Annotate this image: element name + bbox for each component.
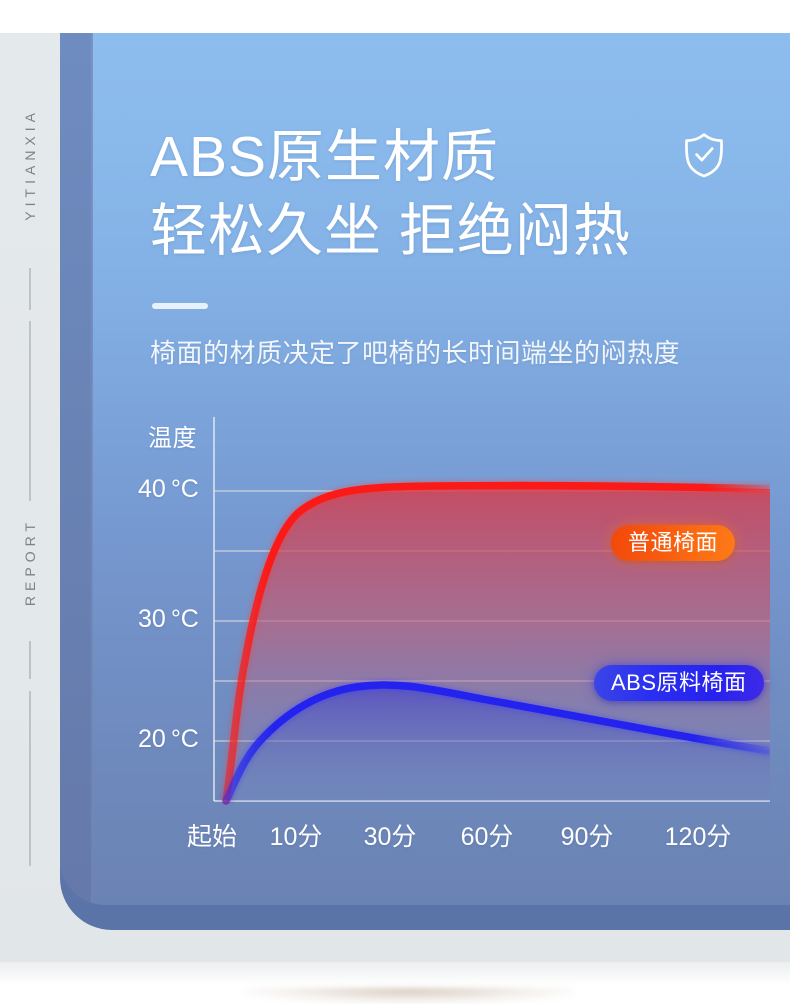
y-axis-tick-40: 40 °C: [138, 475, 199, 504]
page-title: ABS原生材质 轻松久坐 拒绝闷热: [150, 120, 710, 268]
rail-divider-2: [30, 321, 31, 501]
title-divider: [152, 303, 208, 309]
brand-vertical-label: YITIANXIA: [22, 108, 38, 221]
side-rail: YITIANXIA REPORT: [0, 33, 60, 962]
y-axis-tick-30: 30 °C: [138, 605, 199, 634]
rail-divider-4: [30, 691, 31, 866]
x-axis-tick-5: 120分: [665, 817, 732, 853]
section-vertical-label: REPORT: [22, 518, 38, 606]
page-subtitle: 椅面的材质决定了吧椅的长时间端坐的闷热度: [150, 334, 750, 372]
page-title-line-1: ABS原生材质: [150, 120, 710, 194]
chart-plot: [130, 405, 770, 815]
card-left-spine: [60, 33, 93, 905]
x-axis-tick-2: 30分: [364, 817, 417, 853]
x-axis-tick-4: 90分: [561, 817, 614, 853]
x-axis-tick-1: 10分: [270, 817, 323, 853]
x-axis-tick-3: 60分: [461, 817, 514, 853]
legend-pill-ordinary-seat[interactable]: 普通椅面: [611, 525, 735, 561]
rail-divider-3: [30, 641, 31, 679]
shield-check-icon: [682, 131, 726, 179]
page-title-line-2: 轻松久坐 拒绝闷热: [150, 194, 710, 268]
rail-divider-1: [30, 268, 31, 310]
x-axis-tick-0: 起始: [187, 817, 237, 853]
y-axis-tick-20: 20 °C: [138, 725, 199, 754]
temperature-chart: 温度 40 °C 30 °C 20 °C: [130, 405, 770, 865]
y-axis-title: 温度: [148, 418, 197, 453]
legend-pill-abs-seat[interactable]: ABS原料椅面: [594, 665, 764, 701]
sheet-bottom-smudge: [245, 988, 575, 1004]
